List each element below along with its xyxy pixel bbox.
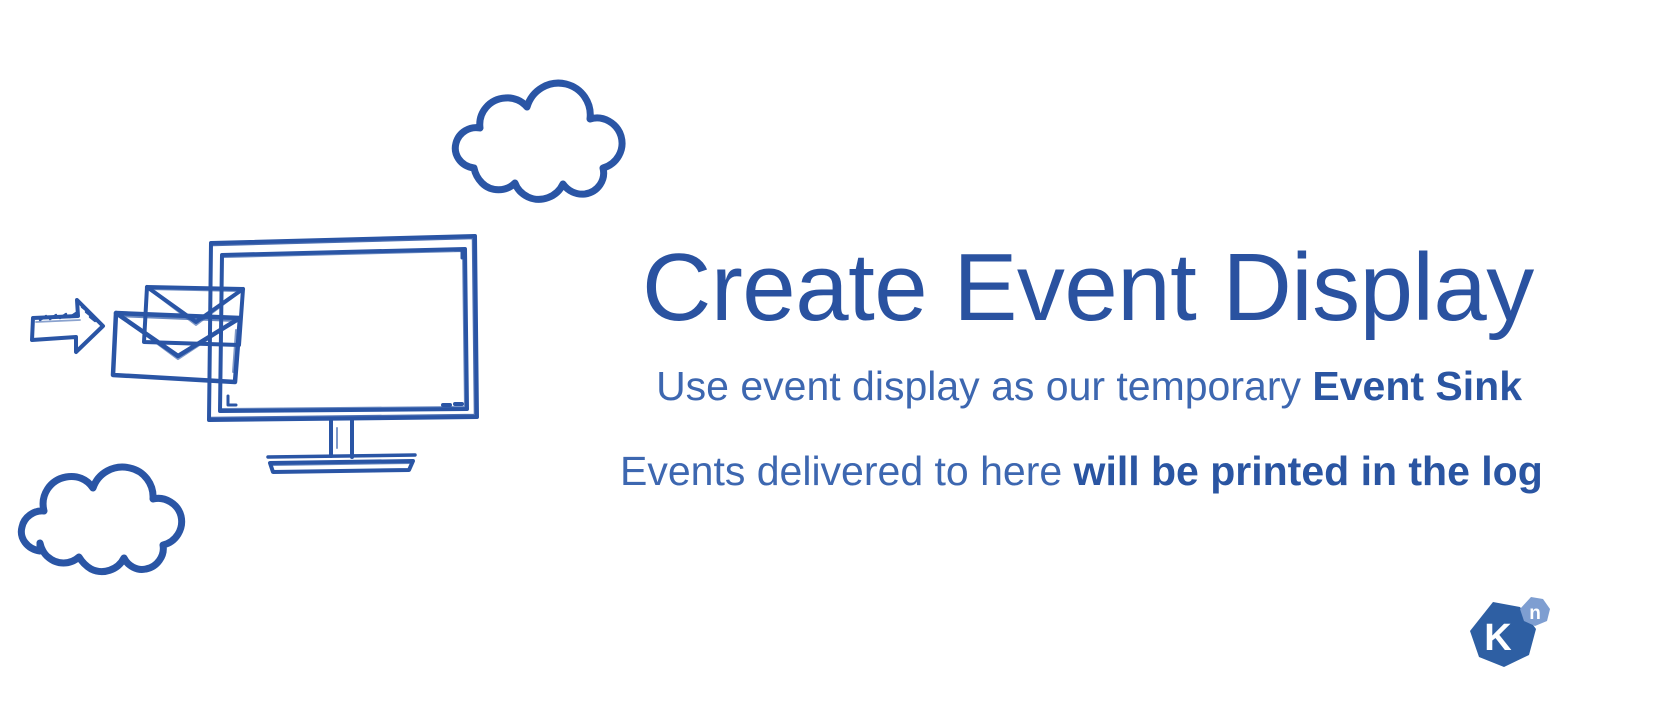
subtitle-line-1-normal: Use event display as our temporary bbox=[656, 363, 1312, 409]
monitor-icon bbox=[209, 236, 477, 472]
illustration-group bbox=[0, 0, 680, 726]
text-block: Create Event Display Use event display a… bbox=[620, 236, 1560, 492]
arrow-icon bbox=[32, 300, 103, 352]
page-title: Create Event Display bbox=[642, 236, 1560, 340]
slide-root: Create Event Display Use event display a… bbox=[0, 0, 1658, 726]
subtitle-line-2: Events delivered to here will be printed… bbox=[620, 451, 1560, 492]
subtitle-line-1-bold: Event Sink bbox=[1312, 363, 1522, 409]
subtitle-line-2-bold: will be printed in the log bbox=[1074, 448, 1543, 494]
logo-letter-primary: K bbox=[1484, 617, 1512, 659]
knative-logo: K n bbox=[1452, 588, 1558, 684]
cloud-top-icon bbox=[455, 83, 622, 199]
cloud-bottom-icon bbox=[21, 467, 181, 571]
subtitle-line-1: Use event display as our temporary Event… bbox=[620, 366, 1560, 407]
subtitle-line-2-normal: Events delivered to here bbox=[620, 448, 1074, 494]
logo-letter-secondary: n bbox=[1529, 603, 1541, 624]
